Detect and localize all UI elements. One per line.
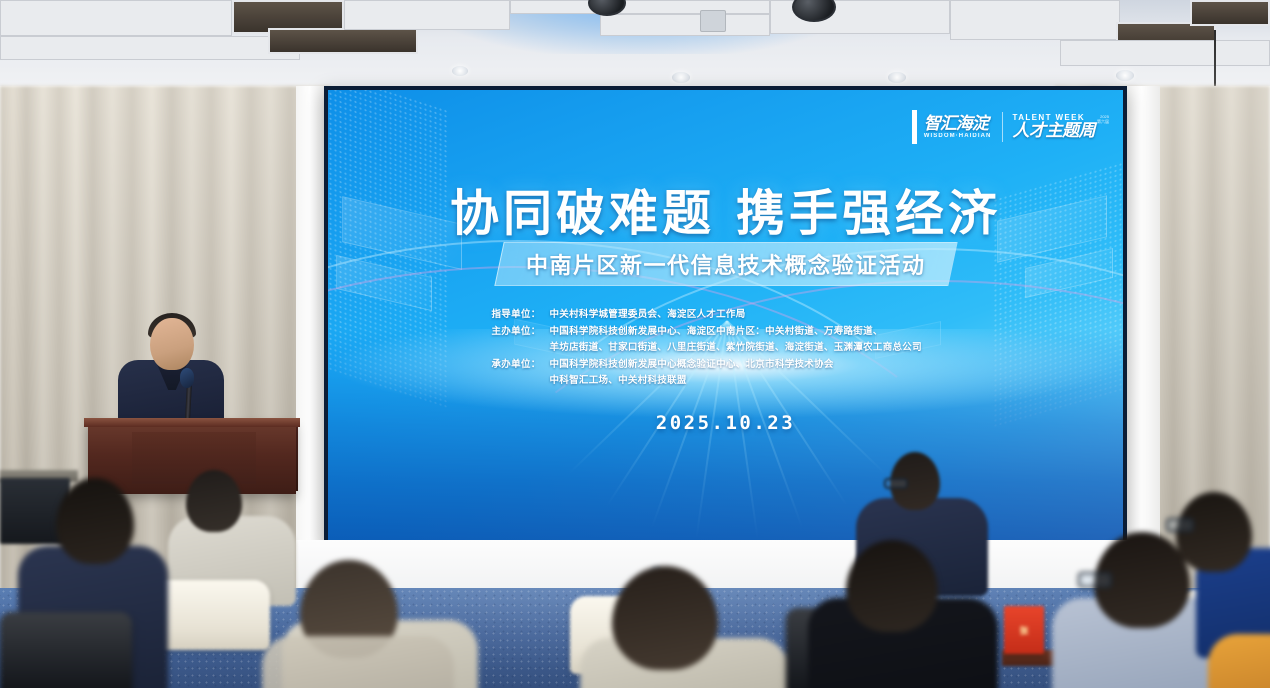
audience-head: [846, 540, 938, 632]
conference-room-photo: 智汇海淀 WISDOM·HAIDIAN TALENT WEEK 人才主题周 20…: [0, 0, 1270, 688]
event-logo: 智汇海淀 WISDOM·HAIDIAN TALENT WEEK 人才主题周 20…: [912, 110, 1109, 144]
eyeglasses-icon: [1166, 518, 1194, 532]
organizer-list: 指导单位： 中关村科学城管理委员会、海淀区人才工作局 主办单位： 中国科学院科技…: [328, 306, 1123, 386]
logo-edition-mark: 2025 第六届: [1097, 114, 1109, 124]
slide-subtitle-wrap: 中南片区新一代信息技术概念验证活动: [328, 242, 1123, 286]
slide-subtitle: 中南片区新一代信息技术概念验证活动: [526, 248, 926, 280]
microphone-icon: [180, 368, 194, 388]
logo-talent-week: TALENT WEEK 人才主题周 2025 第六届: [1013, 113, 1110, 141]
eyeglasses-icon: [1078, 572, 1112, 588]
presenter-head: [150, 318, 194, 370]
ceiling-panel: [344, 0, 510, 30]
audience-chair-black: [0, 612, 132, 688]
logo-brand-cn: 智汇海淀: [924, 115, 988, 133]
ceiling-light-icon: [1116, 70, 1134, 81]
ceiling-light-icon: [452, 66, 468, 76]
podium-front-panel: [132, 432, 256, 484]
ceiling-projector-mount: [700, 10, 726, 32]
audience-chair: [150, 580, 270, 650]
ceiling-panel: [0, 36, 300, 60]
audience-torso: [1208, 634, 1270, 688]
podium-top: [84, 418, 300, 427]
organizer-text: 中国科学院科技创新发展中心、海淀区中南片区：中关村街道、万寿路街道、: [550, 323, 960, 337]
slide-title: 协同破难题 携手强经济: [328, 174, 1123, 245]
ceiling-open-panel: [1190, 0, 1270, 26]
audience-head: [1176, 492, 1252, 572]
slide-date: 2025.10.23: [328, 412, 1123, 434]
organizer-row: 主办单位： 中国科学院科技创新发展中心、海淀区中南片区：中关村街道、万寿路街道、: [492, 323, 960, 337]
logo-wisdom-haidian: 智汇海淀 WISDOM·HAIDIAN: [924, 115, 992, 140]
wall-pillar-right: [1126, 86, 1160, 586]
organizer-row: 承办单位： 中国科学院科技创新发展中心概念验证中心、北京市科学技术协会: [492, 356, 960, 370]
logo-talent-cn: 人才主题周: [1013, 122, 1096, 141]
ceiling-open-panel: [268, 28, 418, 54]
logo-bar-icon: [912, 110, 917, 144]
ceiling: [0, 0, 1270, 96]
name-card: 张: [1004, 606, 1044, 654]
ceiling-panel: [950, 0, 1120, 40]
eyeglasses-icon: [884, 478, 908, 489]
ceiling-panel: [600, 14, 770, 36]
ceiling-cable: [1214, 30, 1216, 90]
organizer-label: 主办单位：: [492, 323, 550, 337]
audience-head: [186, 470, 242, 532]
organizer-text: 中关村科学城管理委员会、海淀区人才工作局: [550, 306, 960, 320]
wall-pillar-left: [296, 86, 326, 586]
ceiling-panel: [0, 0, 232, 36]
organizer-text: 羊坊店街道、甘家口街道、八里庄街道、紫竹院街道、海淀街道、玉渊潭农工商总公司: [550, 339, 960, 353]
ceiling-panel: [510, 0, 770, 14]
slide-subtitle-band: 中南片区新一代信息技术概念验证活动: [494, 242, 957, 286]
organizer-row: 指导单位： 中关村科学城管理委员会、海淀区人才工作局: [492, 306, 960, 320]
audience-torso: [262, 636, 454, 688]
logo-divider: [1002, 112, 1003, 142]
ceiling-light-icon: [672, 72, 690, 83]
organizer-label: 承办单位：: [492, 356, 550, 370]
organizer-text: 中国科学院科技创新发展中心概念验证中心、北京市科学技术协会: [550, 356, 960, 370]
logo-brand-en: WISDOM·HAIDIAN: [924, 133, 992, 139]
led-screen: 智汇海淀 WISDOM·HAIDIAN TALENT WEEK 人才主题周 20…: [324, 86, 1127, 545]
audience-head: [56, 478, 134, 564]
presentation-slide: 智汇海淀 WISDOM·HAIDIAN TALENT WEEK 人才主题周 20…: [328, 90, 1123, 541]
ceiling-light-icon: [888, 72, 906, 83]
ceiling-panel: [1060, 40, 1270, 66]
organizer-text: 中科智汇工场、中关村科技联盟: [550, 372, 960, 386]
organizer-row: 羊坊店街道、甘家口街道、八里庄街道、紫竹院街道、海淀街道、玉渊潭农工商总公司: [492, 339, 960, 353]
organizer-row: 中科智汇工场、中关村科技联盟: [492, 372, 960, 386]
organizer-label: 指导单位：: [492, 306, 550, 320]
